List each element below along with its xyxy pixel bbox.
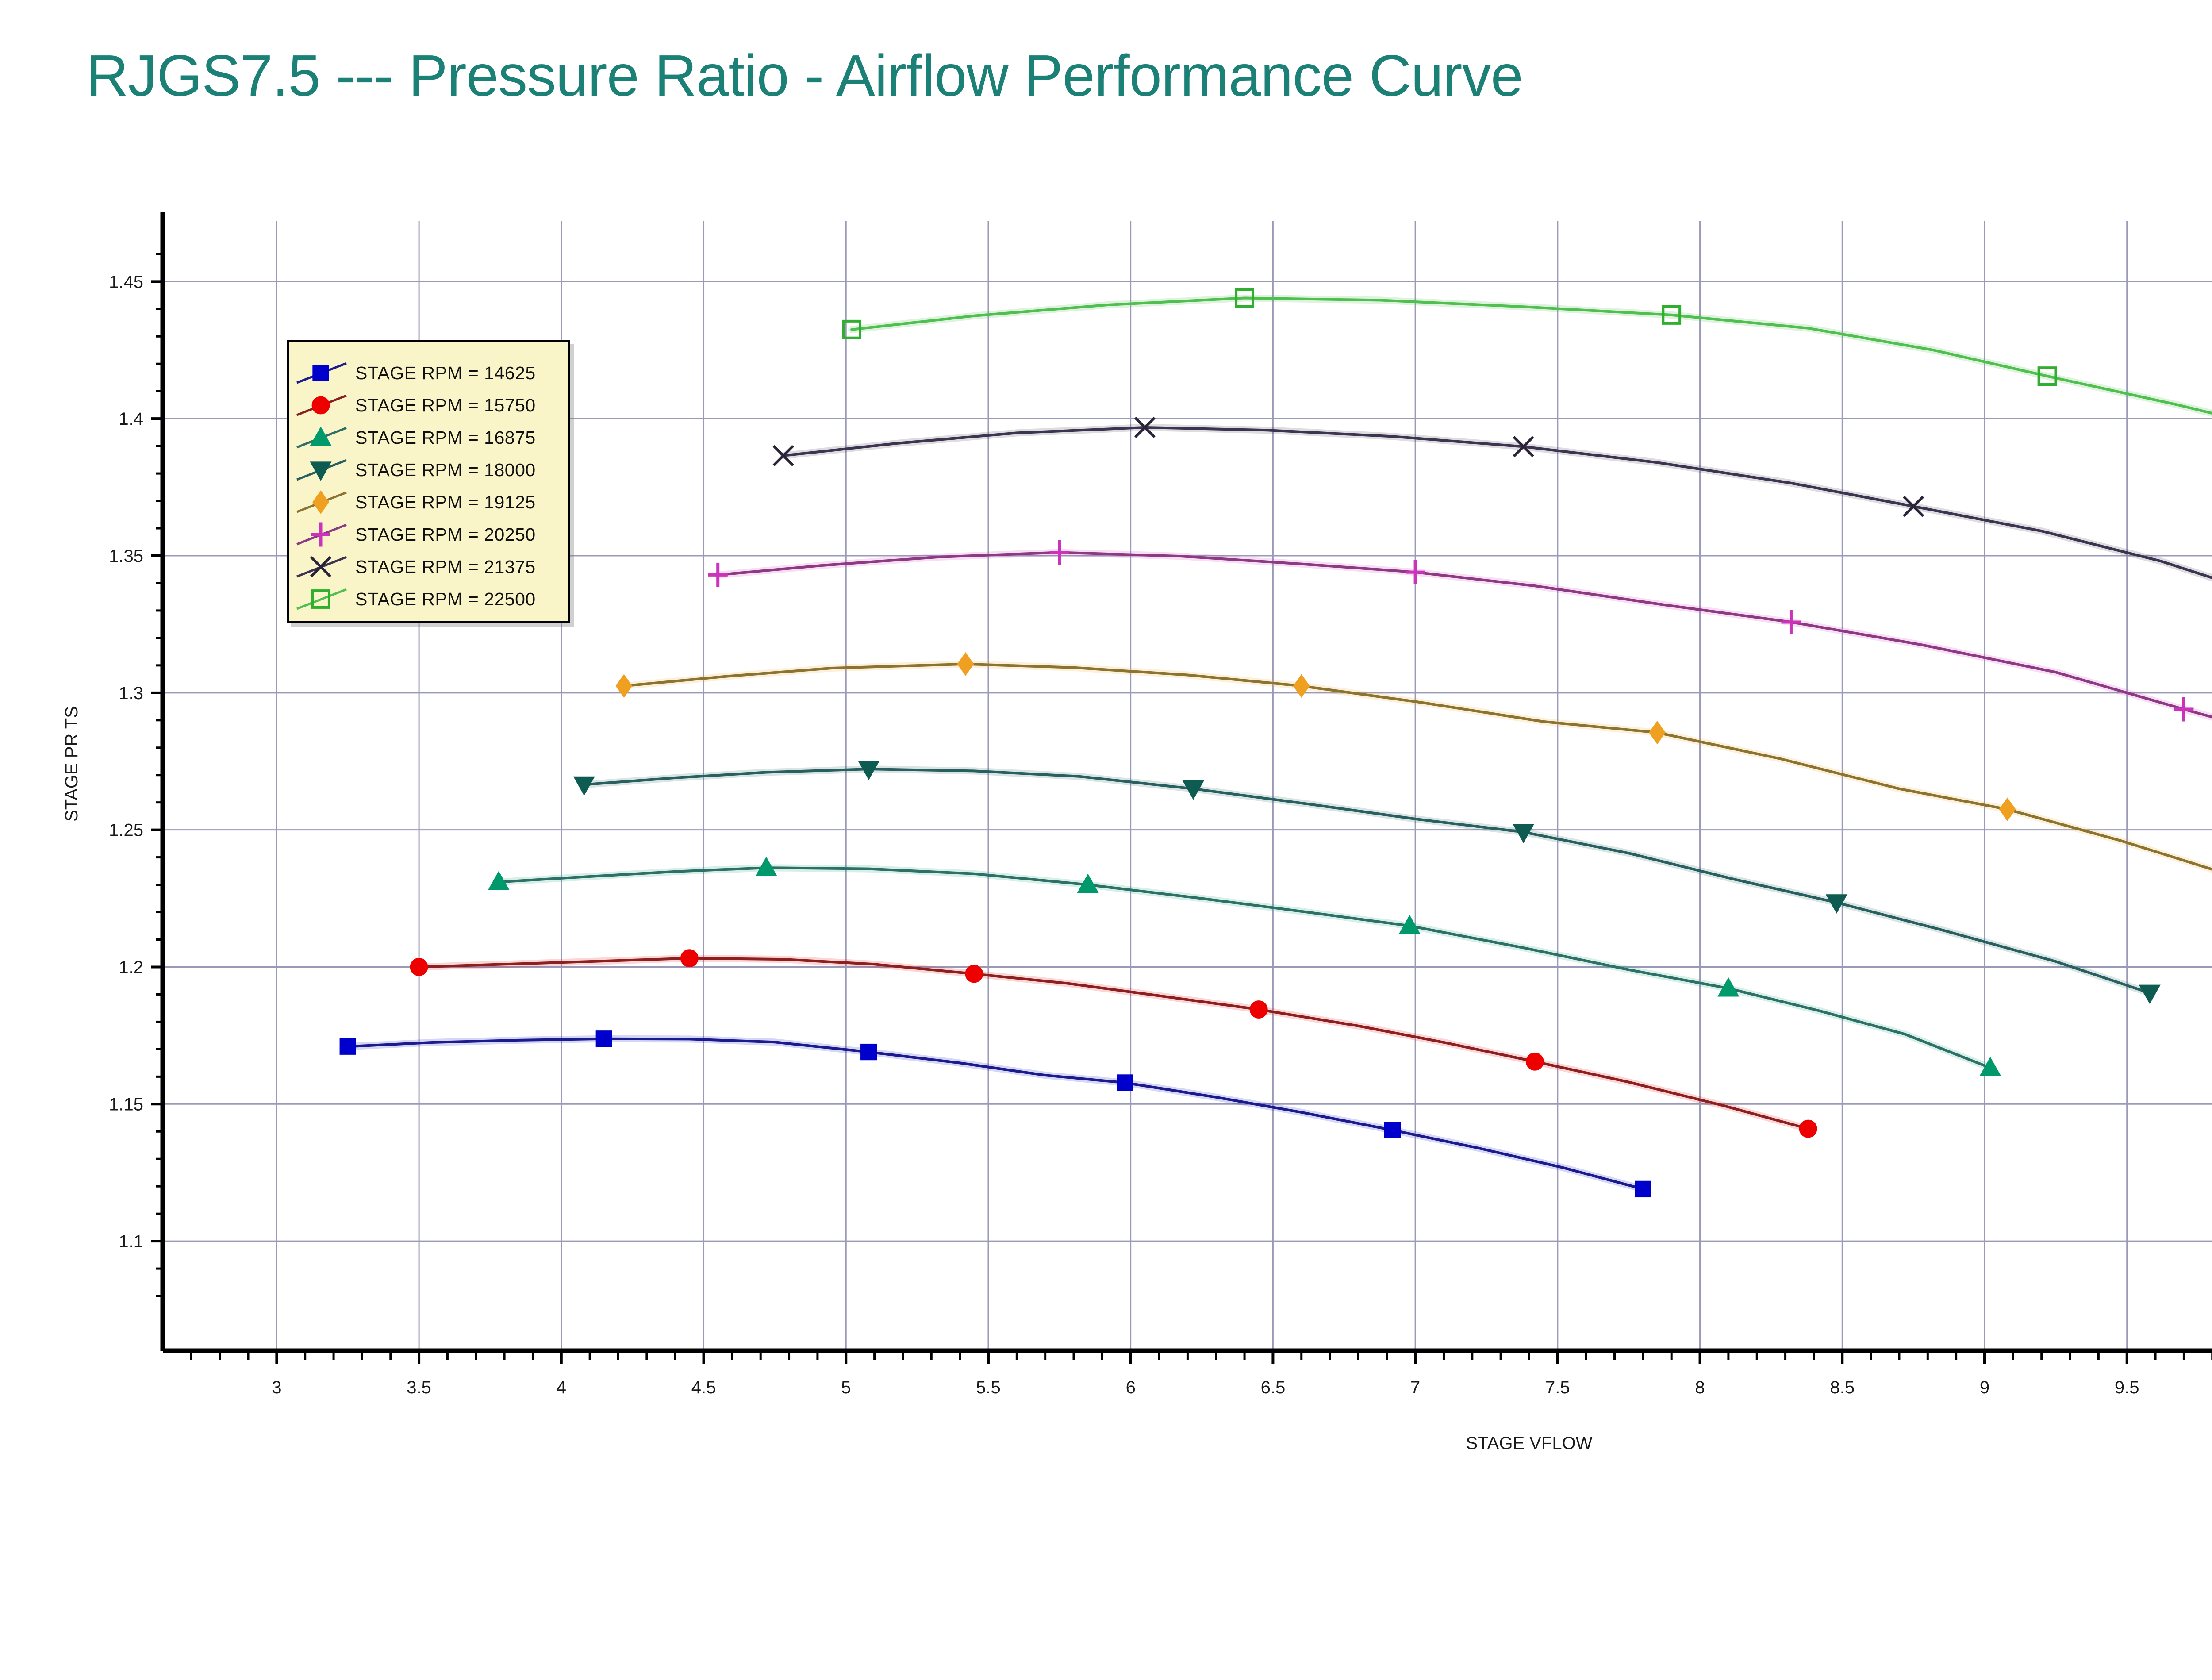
marker-circle-filled (1800, 1120, 1816, 1137)
legend-item-label: STAGE RPM = 19125 (355, 492, 536, 513)
x-axis-tick-label: 3 (272, 1378, 281, 1397)
x-axis-tick-label: 9 (1980, 1378, 1989, 1397)
series-line (852, 298, 2212, 626)
legend-item-label: STAGE RPM = 14625 (355, 363, 536, 384)
series-1 (340, 1031, 1651, 1197)
x-axis-tick-label: 8 (1695, 1378, 1705, 1397)
x-axis-tick-label: 6.5 (1261, 1378, 1286, 1397)
legend-marker-triangle-up-icon (289, 420, 355, 455)
legend-item-label: STAGE RPM = 20250 (355, 524, 536, 545)
legend-marker-triangle-down-icon (289, 452, 355, 488)
marker-plus-star (708, 563, 728, 587)
series-line-glow (852, 298, 2212, 626)
series-line (348, 1039, 1643, 1189)
marker-diamond-filled (1650, 722, 1665, 743)
series-line-glow (348, 1039, 1643, 1189)
marker-triangle-up (311, 428, 330, 445)
legend-item-label: STAGE RPM = 22500 (355, 589, 536, 610)
chart-svg: 1.11.151.21.251.31.351.41.4533.544.555.5… (0, 0, 2212, 1680)
legend-item-label: STAGE RPM = 16875 (355, 427, 536, 448)
legend-item-22500[interactable]: STAGE RPM = 22500 (289, 581, 572, 617)
marker-x-cross (311, 557, 330, 577)
x-axis-tick-label: 9.5 (2115, 1378, 2139, 1397)
legend-item-label: STAGE RPM = 18000 (355, 460, 536, 481)
x-axis-tick-label: 5.5 (976, 1378, 1001, 1397)
legend-marker-x-cross-icon (289, 549, 355, 584)
marker-diamond-filled (313, 492, 328, 513)
marker-diamond-filled (2000, 799, 2015, 820)
legend-line (297, 589, 346, 609)
marker-circle-filled (312, 397, 329, 414)
legend-marker-square-filled-icon (289, 355, 355, 391)
legend-item-15750[interactable]: STAGE RPM = 15750 (289, 388, 572, 423)
marker-square-filled (313, 365, 328, 381)
legend-item-19125[interactable]: STAGE RPM = 19125 (289, 484, 572, 520)
series-line-glow (419, 958, 1808, 1129)
marker-plus-star (1781, 610, 1801, 634)
series-line-glow (718, 553, 2212, 830)
series-line (624, 664, 2212, 916)
y-axis-tick-label: 1.15 (109, 1095, 143, 1114)
marker-triangle-down (311, 462, 330, 480)
y-axis-tick-label: 1.25 (109, 821, 143, 840)
marker-square-filled (1385, 1123, 1400, 1138)
legend-marker-square-open-icon (289, 581, 355, 617)
legend-item-label: STAGE RPM = 15750 (355, 395, 536, 416)
marker-plus-star (1406, 560, 1425, 584)
marker-plus-star (311, 523, 330, 547)
marker-plus-star (2174, 697, 2193, 721)
marker-square-filled (1118, 1075, 1133, 1090)
x-axis-tick-label: 4 (557, 1378, 566, 1397)
legend-item-21375[interactable]: STAGE RPM = 21375 (289, 549, 572, 584)
x-axis-tick-label: 7.5 (1545, 1378, 1570, 1397)
legend-marker-plus-star-icon (289, 517, 355, 552)
marker-diamond-filled (958, 654, 973, 675)
y-axis-tick-label: 1.4 (119, 409, 143, 429)
legend-item-16875[interactable]: STAGE RPM = 16875 (289, 420, 572, 455)
legend-item-label: STAGE RPM = 21375 (355, 557, 536, 577)
marker-square-filled (596, 1031, 611, 1046)
y-axis-title: STAGE PR TS (62, 706, 81, 822)
x-axis-tick-label: 4.5 (691, 1378, 716, 1397)
marker-square-filled (1636, 1181, 1651, 1196)
x-axis-tick-label: 5 (841, 1378, 851, 1397)
marker-circle-filled (1526, 1053, 1543, 1070)
legend-marker-diamond-filled-icon (289, 484, 355, 520)
marker-square-filled (861, 1044, 876, 1059)
series-2 (411, 950, 1816, 1137)
legend-item-20250[interactable]: STAGE RPM = 20250 (289, 517, 572, 552)
y-axis-tick-label: 1.45 (109, 272, 143, 292)
marker-circle-filled (411, 959, 427, 976)
y-axis-tick-label: 1.3 (119, 684, 143, 703)
x-axis-tick-label: 8.5 (1830, 1378, 1855, 1397)
y-axis-tick-label: 1.1 (119, 1232, 143, 1251)
x-axis-title: STAGE VFLOW (1466, 1434, 1593, 1453)
chart-plot-area: 1.11.151.21.251.31.351.41.4533.544.555.5… (0, 0, 2212, 1680)
marker-circle-filled (1250, 1001, 1267, 1018)
chart-page: RJGS7.5 --- Pressure Ratio - Airflow Per… (0, 0, 2212, 1680)
x-axis-tick-label: 6 (1126, 1378, 1136, 1397)
marker-circle-filled (966, 965, 983, 982)
series-line (718, 553, 2212, 830)
series-6 (708, 540, 2212, 842)
legend-marker-circle-filled-icon (289, 388, 355, 423)
chart-legend: STAGE RPM = 14625STAGE RPM = 15750STAGE … (287, 340, 570, 623)
legend-item-18000[interactable]: STAGE RPM = 18000 (289, 452, 572, 488)
y-axis-tick-label: 1.2 (119, 957, 143, 977)
marker-circle-filled (681, 950, 698, 967)
marker-square-filled (340, 1039, 355, 1054)
series-line (419, 958, 1808, 1129)
x-axis-tick-label: 7 (1410, 1378, 1420, 1397)
y-axis-tick-label: 1.35 (109, 546, 143, 566)
series-5 (616, 654, 2212, 927)
marker-plus-star (1050, 540, 1069, 565)
x-axis-tick-label: 3.5 (407, 1378, 431, 1397)
legend-item-14625[interactable]: STAGE RPM = 14625 (289, 355, 572, 391)
